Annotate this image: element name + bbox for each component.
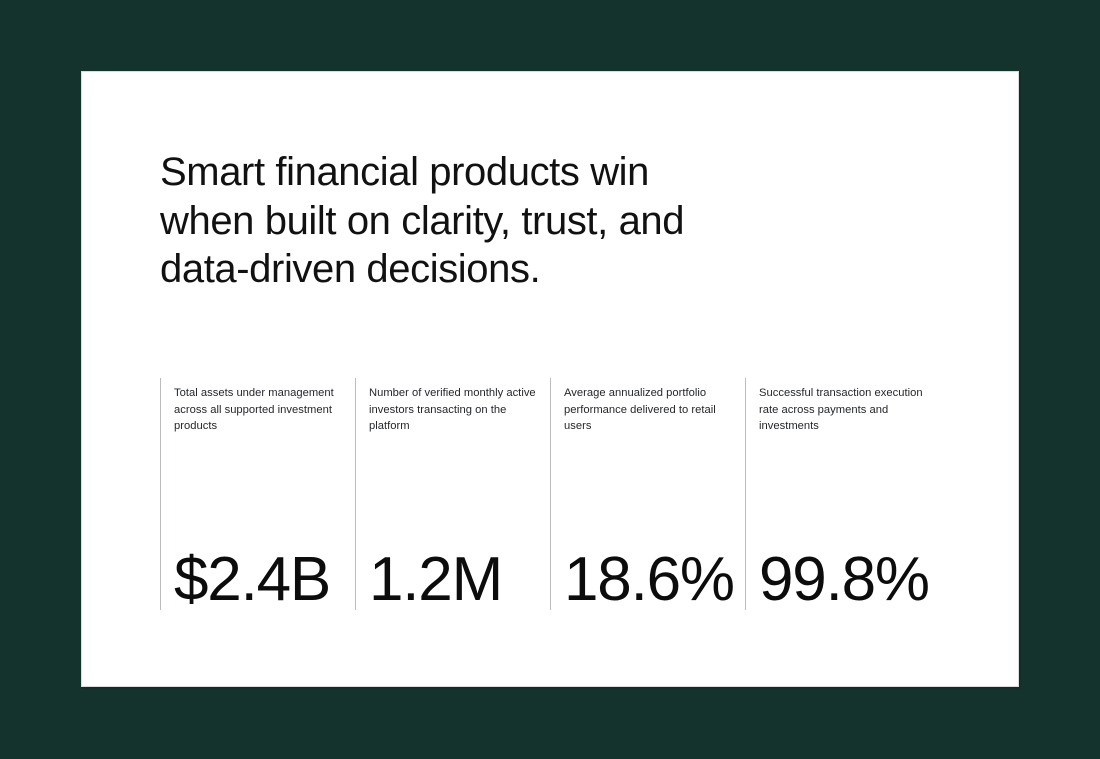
headline-line-3: data-driven decisions. (160, 245, 780, 294)
headline-line-2: when built on clarity, trust, and (160, 197, 780, 246)
headline-line-1: Smart financial products win (160, 148, 780, 197)
stat-value: 18.6% (564, 549, 745, 611)
stats-row: Total assets under management across all… (160, 378, 960, 610)
stat-item-portfolio-performance: Average annualized portfolio performance… (550, 378, 745, 610)
stat-item-monthly-active-investors: Number of verified monthly active invest… (355, 378, 550, 610)
page-title: Smart financial products win when built … (160, 148, 780, 294)
stat-item-assets-under-management: Total assets under management across all… (160, 378, 355, 610)
stat-description: Number of verified monthly active invest… (369, 385, 537, 435)
stat-description: Total assets under management across all… (174, 385, 342, 435)
stat-item-execution-rate: Successful transaction execution rate ac… (745, 378, 940, 610)
stat-description: Successful transaction execution rate ac… (759, 385, 927, 435)
content-card: Smart financial products win when built … (81, 71, 1019, 687)
stat-value: 1.2M (369, 549, 550, 611)
stat-value: 99.8% (759, 549, 940, 611)
slide-canvas: Smart financial products win when built … (0, 0, 1100, 759)
stat-description: Average annualized portfolio performance… (564, 385, 732, 435)
stat-value: $2.4B (174, 549, 355, 611)
